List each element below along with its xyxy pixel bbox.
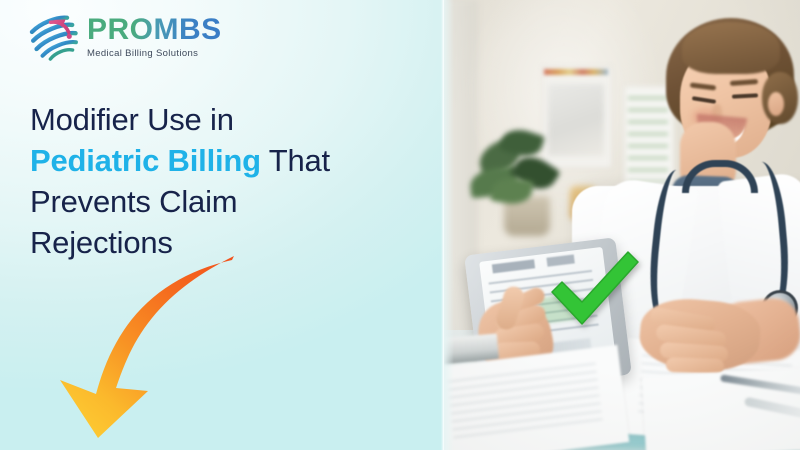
brand-name: PROMBS (87, 15, 222, 45)
photo-left-edge-fade (444, 0, 454, 450)
headline-line-2-rest: That (261, 143, 330, 178)
globe-icon (28, 10, 80, 62)
headline-accent: Pediatric Billing (30, 143, 261, 178)
blog-banner: PROMBS Medical Billing Solutions Modifie… (0, 0, 800, 450)
curved-down-left-arrow-icon (36, 252, 236, 442)
headline-line-1: Modifier Use in (30, 99, 424, 140)
brand-text: PROMBS Medical Billing Solutions (87, 13, 222, 59)
text-panel: PROMBS Medical Billing Solutions Modifie… (0, 0, 444, 450)
brand-tagline: Medical Billing Solutions (87, 49, 222, 59)
headline-line-3: Prevents Claim (30, 181, 424, 222)
brand-logo[interactable]: PROMBS Medical Billing Solutions (28, 10, 222, 62)
headline: Modifier Use in Pediatric Billing That P… (30, 99, 424, 264)
photo-vignette (444, 0, 800, 450)
doctor-photo (444, 0, 800, 450)
headline-line-2: Pediatric Billing That (30, 140, 424, 181)
